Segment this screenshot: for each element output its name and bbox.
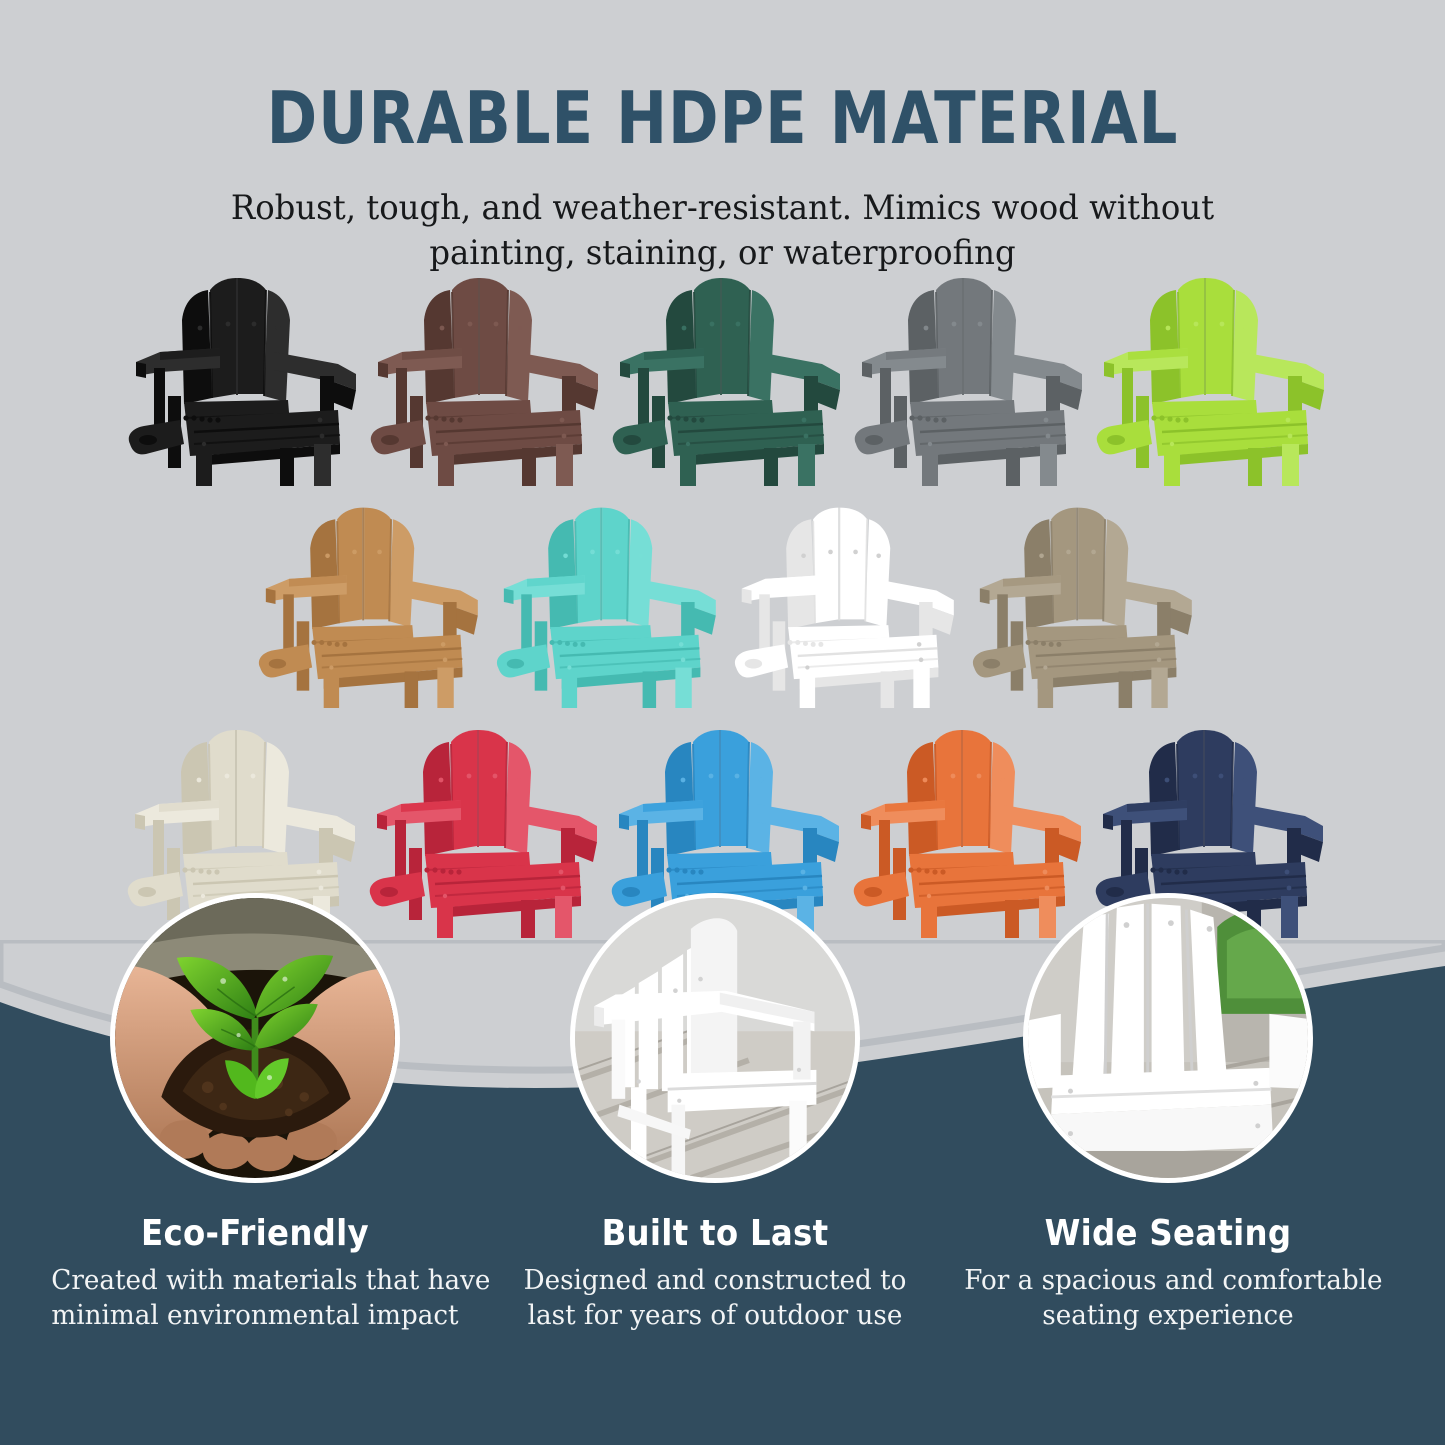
subtitle-line-1: Robust, tough, and weather-resistant. Mi… [36,186,1409,231]
feature-title: Eco-Friendly [45,1213,465,1254]
chair-swatch-svg [252,498,484,708]
hands-holding-seedling-photo [110,893,400,1183]
chair-swatch-lime-green[interactable] [1092,268,1328,486]
chair-swatch-svg [1092,268,1328,486]
feature-desc-line-2: last for years of outdoor use [511,1299,918,1334]
chair-swatch-svg [966,498,1198,708]
feature-item-eco-friendly: Eco-Friendly Created with materials that… [45,893,465,1333]
chair-swatch-teak[interactable] [252,498,484,708]
feature-item-wide-seating: Wide Seating For a spacious and comforta… [958,893,1378,1333]
chair-row-2 [4,498,1445,708]
header: DURABLE HDPE MATERIAL Robust, tough, and… [0,0,1445,276]
chair-swatch-turquoise[interactable] [490,498,722,708]
feature-desc-line-1: Designed and constructed to [511,1264,918,1299]
feature-description: Created with materials that have minimal… [51,1264,458,1333]
chair-swatch-brown[interactable] [366,268,602,486]
feature-list: Eco-Friendly Created with materials that… [0,893,1445,1445]
feature-desc-line-1: Created with materials that have [51,1264,458,1299]
white-adirondack-chair-on-patio-photo [570,893,860,1183]
feature-desc-line-2: minimal environmental impact [51,1299,458,1334]
chair-swatch-svg [124,268,360,486]
feature-title: Built to Last [505,1213,925,1254]
chair-swatch-white[interactable] [728,498,960,708]
feature-description: Designed and constructed to last for yea… [511,1264,918,1333]
feature-desc-line-1: For a spacious and comfortable [964,1264,1371,1299]
feature-item-built-to-last: Built to Last Designed and constructed t… [505,893,925,1333]
chair-swatch-svg [728,498,960,708]
feature-description: For a spacious and comfortable seating e… [964,1264,1371,1333]
patio-chair-illustration [575,898,855,1178]
page-title: DURABLE HDPE MATERIAL [43,76,1401,160]
chair-row-1 [6,268,1445,486]
chair-color-grid [0,268,1445,938]
chair-swatch-svg [608,268,844,486]
chair-swatch-weathered-wood[interactable] [966,498,1198,708]
seedling-illustration [115,898,395,1178]
wide-seat-illustration [1028,898,1308,1178]
feature-title: Wide Seating [958,1213,1378,1254]
feature-desc-line-2: seating experience [964,1299,1371,1334]
page-subtitle: Robust, tough, and weather-resistant. Mi… [36,186,1409,276]
chair-swatch-svg [490,498,722,708]
chair-swatch-black[interactable] [124,268,360,486]
chair-swatch-svg [850,268,1086,486]
white-chair-wide-seat-closeup-photo [1023,893,1313,1183]
chair-swatch-dark-green[interactable] [608,268,844,486]
chair-swatch-gray[interactable] [850,268,1086,486]
chair-swatch-svg [366,268,602,486]
